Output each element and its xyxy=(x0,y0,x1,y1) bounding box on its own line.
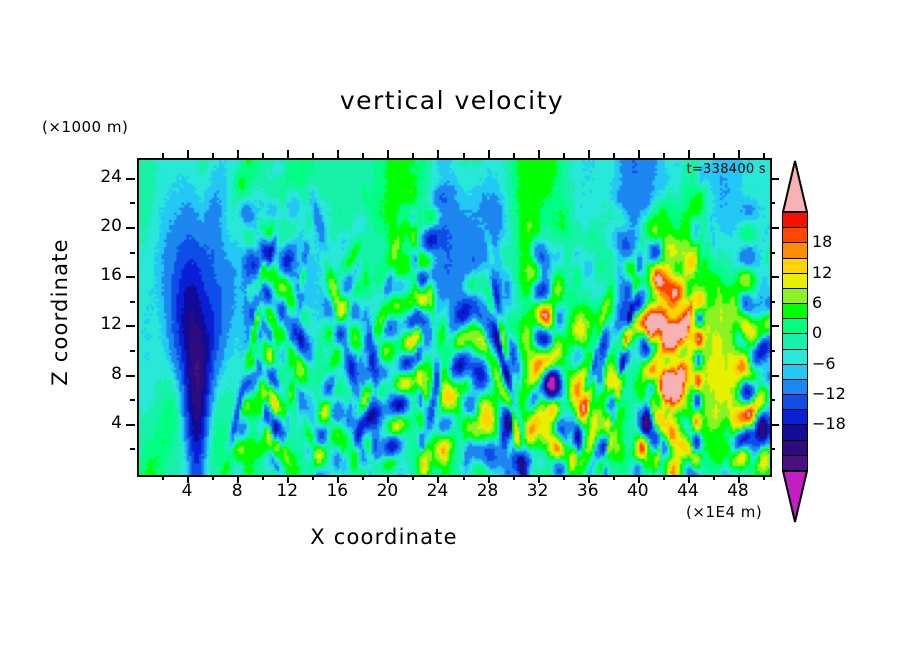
x-tick-label-36: 36 xyxy=(568,481,608,501)
x-tick-top-32 xyxy=(538,150,540,158)
y-axis-unit-label: (×1000 m) xyxy=(42,118,128,136)
colorbar-under-arrow xyxy=(782,470,808,522)
y-axis-title: Z coordinate xyxy=(48,192,72,432)
y-tick-16 xyxy=(126,276,135,278)
y-tick-24 xyxy=(126,178,135,180)
x-tick-top-50 xyxy=(763,153,765,158)
y-tick-label-12: 12 xyxy=(82,314,122,334)
y-tick-18 xyxy=(130,252,135,254)
colorbar-band-15 xyxy=(782,440,808,456)
x-tick-label-48: 48 xyxy=(718,481,758,501)
colorbar-label-12: 12 xyxy=(812,263,832,282)
x-tick-50 xyxy=(763,475,765,480)
y-tick-8 xyxy=(126,375,135,377)
x-tick-6 xyxy=(212,475,214,480)
y-tick-label-20: 20 xyxy=(82,216,122,236)
y-tick-2 xyxy=(130,448,135,450)
x-tick-top-12 xyxy=(287,150,289,158)
x-tick-34 xyxy=(563,475,565,480)
x-tick-26 xyxy=(463,475,465,480)
y-tick-6 xyxy=(130,399,135,401)
y-tick-label-16: 16 xyxy=(82,265,122,285)
x-tick-label-12: 12 xyxy=(267,481,307,501)
x-tick-top-40 xyxy=(638,150,640,158)
colorbar-label-6: 6 xyxy=(812,293,822,312)
x-tick-top-46 xyxy=(713,153,715,158)
contour-plot-area[interactable]: t=338400 s xyxy=(137,158,772,477)
colorbar-label--6: −6 xyxy=(812,354,836,373)
colorbar-band-4 xyxy=(782,273,808,289)
x-tick-top-8 xyxy=(237,150,239,158)
colorbar-band-5 xyxy=(782,288,808,304)
y-tick-22 xyxy=(130,202,135,204)
x-tick-label-32: 32 xyxy=(518,481,558,501)
y-tick-label-24: 24 xyxy=(82,167,122,187)
y-tick-right-16 xyxy=(770,276,779,278)
x-tick-top-44 xyxy=(688,150,690,158)
x-tick-top-4 xyxy=(187,150,189,158)
x-tick-42 xyxy=(663,475,665,480)
x-tick-top-18 xyxy=(362,153,364,158)
x-tick-label-8: 8 xyxy=(217,481,257,501)
x-tick-top-14 xyxy=(312,153,314,158)
colorbar-band-3 xyxy=(782,258,808,274)
y-tick-right-24 xyxy=(770,178,779,180)
colorbar-over-arrow xyxy=(782,160,808,212)
x-tick-label-20: 20 xyxy=(367,481,407,501)
x-tick-top-20 xyxy=(387,150,389,158)
x-tick-14 xyxy=(312,475,314,480)
page-title: vertical velocity xyxy=(0,86,904,115)
x-axis-unit-label: (×1E4 m) xyxy=(686,503,762,521)
x-tick-label-44: 44 xyxy=(668,481,708,501)
x-tick-top-22 xyxy=(412,153,414,158)
y-tick-label-8: 8 xyxy=(82,364,122,384)
x-tick-label-24: 24 xyxy=(417,481,457,501)
colorbar-band-1 xyxy=(782,227,808,243)
x-axis-title: X coordinate xyxy=(0,525,768,549)
colorbar-band-14 xyxy=(782,424,808,440)
colorbar-band-13 xyxy=(782,409,808,425)
colorbar-band-8 xyxy=(782,333,808,349)
x-tick-top-42 xyxy=(663,153,665,158)
y-tick-right-6 xyxy=(770,399,775,401)
colorbar-label--12: −12 xyxy=(812,384,846,403)
colorbar-band-16 xyxy=(782,455,808,471)
y-tick-right-12 xyxy=(770,325,779,327)
colorbar-band-2 xyxy=(782,242,808,258)
velocity-field-canvas xyxy=(139,160,770,475)
x-tick-46 xyxy=(713,475,715,480)
colorbar[interactable] xyxy=(782,212,808,470)
x-tick-38 xyxy=(613,475,615,480)
colorbar-band-10 xyxy=(782,364,808,380)
x-tick-18 xyxy=(362,475,364,480)
x-tick-top-26 xyxy=(463,153,465,158)
x-tick-label-16: 16 xyxy=(317,481,357,501)
y-tick-20 xyxy=(126,227,135,229)
y-tick-right-22 xyxy=(770,202,775,204)
y-tick-right-2 xyxy=(770,448,775,450)
x-tick-top-24 xyxy=(437,150,439,158)
x-tick-10 xyxy=(262,475,264,480)
colorbar-band-6 xyxy=(782,303,808,319)
x-tick-2 xyxy=(162,475,164,480)
x-tick-label-28: 28 xyxy=(468,481,508,501)
x-tick-top-34 xyxy=(563,153,565,158)
colorbar-band-0 xyxy=(782,212,808,228)
colorbar-band-11 xyxy=(782,379,808,395)
y-tick-right-10 xyxy=(770,350,775,352)
x-tick-top-28 xyxy=(488,150,490,158)
x-tick-top-36 xyxy=(588,150,590,158)
colorbar-band-7 xyxy=(782,318,808,334)
y-tick-right-4 xyxy=(770,424,779,426)
colorbar-label-18: 18 xyxy=(812,232,832,251)
colorbar-band-9 xyxy=(782,349,808,365)
x-tick-top-10 xyxy=(262,153,264,158)
x-tick-top-38 xyxy=(613,153,615,158)
y-tick-right-18 xyxy=(770,252,775,254)
x-tick-label-4: 4 xyxy=(167,481,207,501)
y-tick-14 xyxy=(130,301,135,303)
x-tick-30 xyxy=(513,475,515,480)
x-tick-top-16 xyxy=(337,150,339,158)
x-tick-top-30 xyxy=(513,153,515,158)
x-tick-top-2 xyxy=(162,153,164,158)
y-tick-4 xyxy=(126,424,135,426)
y-tick-12 xyxy=(126,325,135,327)
colorbar-label-0: 0 xyxy=(812,323,822,342)
y-tick-10 xyxy=(130,350,135,352)
x-tick-top-6 xyxy=(212,153,214,158)
y-tick-right-20 xyxy=(770,227,779,229)
x-tick-22 xyxy=(412,475,414,480)
y-tick-right-14 xyxy=(770,301,775,303)
x-tick-top-48 xyxy=(738,150,740,158)
x-tick-label-40: 40 xyxy=(618,481,658,501)
y-tick-label-4: 4 xyxy=(82,413,122,433)
colorbar-band-12 xyxy=(782,394,808,410)
colorbar-label--18: −18 xyxy=(812,414,846,433)
time-annotation: t=338400 s xyxy=(686,162,766,177)
y-tick-right-8 xyxy=(770,375,779,377)
